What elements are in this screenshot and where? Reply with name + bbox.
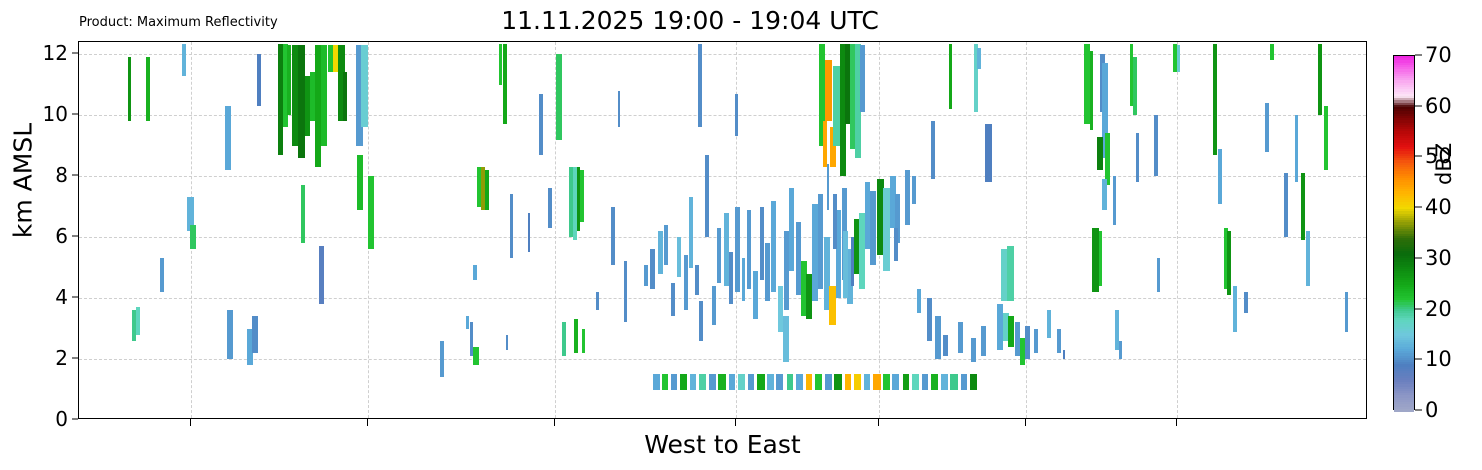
y-axis-tick-mark (72, 236, 78, 237)
reflectivity-bar (1133, 57, 1136, 115)
reflectivity-bar (718, 374, 726, 389)
reflectivity-bar (859, 213, 865, 289)
reflectivity-bar (252, 316, 258, 353)
reflectivity-bar (160, 258, 164, 292)
reflectivity-bar (190, 225, 196, 249)
reflectivity-bar (1177, 45, 1180, 72)
colorbar: 010203040506070 (1393, 55, 1415, 410)
colorbar-label: dBZ (1432, 143, 1456, 185)
reflectivity-bar (506, 335, 509, 350)
reflectivity-bar (1157, 258, 1160, 292)
x-axis-tick-mark (1025, 419, 1026, 426)
reflectivity-bar (735, 94, 738, 137)
reflectivity-bar (321, 45, 327, 146)
reflectivity-bar (1136, 133, 1139, 182)
reflectivity-bar (1105, 133, 1110, 185)
reflectivity-bar (1119, 341, 1122, 359)
reflectivity-bar (510, 194, 513, 258)
y-axis-tick-label: 0 (22, 407, 68, 431)
reflectivity-bar (618, 91, 621, 128)
colorbar-tick-mark (1415, 207, 1422, 208)
radar-cross-section-figure: 11.11.2025 19:00 - 19:04 UTC Product: Ma… (0, 0, 1482, 470)
reflectivity-bar (257, 54, 261, 106)
reflectivity-bar (1008, 316, 1014, 346)
reflectivity-bar (1318, 44, 1322, 116)
reflectivity-bar (927, 298, 932, 341)
x-axis-tick-mark (878, 419, 879, 426)
reflectivity-bar (699, 374, 706, 389)
reflectivity-bar (787, 374, 793, 389)
reflectivity-bar (760, 207, 765, 280)
reflectivity-bar (818, 194, 823, 289)
reflectivity-bar (1063, 350, 1066, 359)
gridline-horizontal (79, 237, 1366, 238)
reflectivity-bar (690, 374, 696, 389)
reflectivity-bar (684, 255, 689, 310)
x-axis-tick-mark (367, 419, 368, 426)
reflectivity-bar (1102, 179, 1107, 209)
gridline-vertical (1026, 42, 1027, 418)
reflectivity-bar (624, 261, 627, 322)
reflectivity-bar (528, 213, 531, 253)
reflectivity-bar (789, 188, 794, 270)
reflectivity-bar (827, 164, 830, 210)
y-axis-tick-mark (72, 175, 78, 176)
reflectivity-bar (664, 225, 668, 265)
reflectivity-bar (658, 231, 663, 274)
reflectivity-bar (1213, 44, 1217, 155)
reflectivity-bar (499, 44, 502, 85)
reflectivity-bar (699, 301, 703, 341)
reflectivity-bar (146, 57, 150, 121)
reflectivity-bar (843, 231, 848, 298)
colorbar-tick-label: 40 (1425, 195, 1452, 219)
reflectivity-bar (729, 252, 733, 304)
reflectivity-bar (709, 374, 715, 389)
reflectivity-bar (941, 374, 947, 389)
reflectivity-bar (860, 45, 865, 112)
reflectivity-bar (833, 194, 837, 249)
y-axis-tick-mark (72, 53, 78, 54)
y-axis-tick-label: 2 (22, 346, 68, 370)
reflectivity-bar (1244, 292, 1248, 313)
reflectivity-bar (1034, 329, 1038, 353)
reflectivity-bar (825, 374, 831, 389)
gridline-horizontal (79, 359, 1366, 360)
y-axis-tick-mark (72, 114, 78, 115)
reflectivity-bar (977, 48, 981, 69)
reflectivity-bar (225, 106, 231, 170)
reflectivity-bar (128, 57, 131, 121)
reflectivity-bar (971, 338, 976, 362)
reflectivity-bar (1301, 173, 1305, 240)
reflectivity-bar (931, 121, 935, 179)
reflectivity-bar (582, 329, 585, 353)
reflectivity-bar (729, 374, 735, 389)
colorbar-tick-label: 30 (1425, 246, 1452, 270)
reflectivity-bar (695, 265, 699, 295)
reflectivity-bar (815, 374, 822, 389)
reflectivity-bar (1233, 286, 1238, 332)
reflectivity-bar (1227, 231, 1231, 295)
reflectivity-bar (854, 374, 861, 389)
reflectivity-bar (574, 319, 578, 353)
reflectivity-bar (1025, 326, 1030, 360)
reflectivity-bar (950, 374, 958, 389)
reflectivity-bar (580, 170, 583, 222)
reflectivity-bar (596, 292, 599, 310)
reflectivity-bar (1306, 231, 1310, 286)
reflectivity-bar (136, 307, 140, 334)
reflectivity-bar (949, 44, 952, 110)
reflectivity-bar (834, 374, 842, 389)
reflectivity-bar (1265, 103, 1269, 152)
reflectivity-bar (825, 60, 832, 121)
reflectivity-bar (717, 228, 721, 283)
reflectivity-bar (1099, 231, 1103, 286)
colorbar-tick-mark (1415, 410, 1422, 411)
reflectivity-bar (864, 374, 870, 389)
x-axis-tick-mark (1176, 419, 1177, 426)
reflectivity-bar (1007, 246, 1013, 301)
reflectivity-bar (796, 374, 804, 389)
reflectivity-bar (961, 374, 967, 389)
colorbar-tick-mark (1415, 359, 1422, 360)
reflectivity-bar (539, 94, 543, 155)
reflectivity-bar (776, 374, 783, 389)
gridline-horizontal (79, 115, 1366, 116)
reflectivity-bar (556, 54, 562, 139)
x-axis-tick-mark (554, 419, 555, 426)
product-label: Product: Maximum Reflectivity (79, 15, 278, 30)
reflectivity-bar (931, 374, 938, 389)
gridline-vertical (1177, 42, 1178, 418)
reflectivity-bar (473, 347, 479, 365)
colorbar-tick-label: 60 (1425, 94, 1452, 118)
reflectivity-bar (343, 72, 347, 121)
reflectivity-bar (806, 374, 812, 389)
reflectivity-bar (922, 374, 928, 389)
reflectivity-bar (503, 44, 507, 125)
reflectivity-bar (611, 207, 615, 265)
reflectivity-bar (671, 374, 677, 389)
reflectivity-bar (1154, 115, 1158, 176)
reflectivity-bar (680, 374, 688, 389)
reflectivity-bar (1057, 329, 1061, 353)
reflectivity-bar (894, 228, 898, 262)
reflectivity-bar (712, 286, 717, 326)
reflectivity-bar (943, 335, 948, 356)
y-axis-tick-mark (72, 358, 78, 359)
colorbar-tick-label: 70 (1425, 43, 1452, 67)
reflectivity-bar (753, 271, 758, 320)
reflectivity-bar (970, 374, 977, 389)
y-axis-tick-label: 10 (22, 102, 68, 126)
reflectivity-bar (662, 374, 668, 389)
reflectivity-bar (747, 210, 752, 289)
reflectivity-bar (981, 326, 986, 356)
y-axis-tick-label: 12 (22, 41, 68, 65)
reflectivity-bar (1218, 149, 1222, 204)
reflectivity-bar (738, 374, 745, 389)
reflectivity-bar (440, 341, 444, 378)
reflectivity-bar (650, 249, 655, 289)
reflectivity-bar (883, 374, 889, 389)
reflectivity-bar (485, 170, 489, 210)
reflectivity-bar (1270, 44, 1274, 61)
reflectivity-bar (1113, 176, 1116, 225)
colorbar-segment (1394, 409, 1414, 412)
reflectivity-bar (671, 283, 676, 317)
reflectivity-bar (287, 45, 292, 115)
x-axis-label: West to East (78, 430, 1367, 459)
reflectivity-bar (357, 155, 363, 210)
reflectivity-bar (473, 265, 477, 280)
reflectivity-bar (1345, 292, 1348, 332)
reflectivity-bar (742, 258, 746, 301)
reflectivity-bar (958, 322, 963, 352)
reflectivity-bar (985, 124, 991, 182)
reflectivity-bar (466, 316, 469, 328)
reflectivity-bar (912, 374, 920, 389)
reflectivity-bar (1295, 115, 1299, 182)
reflectivity-bar (748, 374, 754, 389)
reflectivity-bar (705, 155, 709, 237)
reflectivity-bar (1047, 310, 1051, 337)
y-axis-tick-label: 6 (22, 224, 68, 248)
reflectivity-bar (689, 197, 694, 267)
y-axis-tick-label: 4 (22, 285, 68, 309)
reflectivity-bar (873, 374, 881, 389)
reflectivity-bar (182, 44, 186, 76)
reflectivity-bar (368, 176, 374, 249)
reflectivity-bar (1284, 173, 1288, 237)
reflectivity-bar (917, 289, 921, 313)
reflectivity-bar (319, 246, 324, 304)
colorbar-gradient (1393, 55, 1415, 410)
reflectivity-bar (783, 316, 789, 362)
reflectivity-bar (644, 265, 649, 286)
reflectivity-bar (765, 243, 770, 301)
colorbar-tick-mark (1415, 55, 1422, 56)
colorbar-tick-label: 0 (1425, 398, 1438, 422)
y-axis-tick-mark (72, 419, 78, 420)
plot-inner (79, 42, 1366, 418)
colorbar-tick-mark (1415, 156, 1422, 157)
x-axis-tick-mark (735, 419, 736, 426)
reflectivity-bar (823, 121, 828, 167)
reflectivity-bar (905, 170, 910, 225)
reflectivity-bar (892, 374, 899, 389)
reflectivity-bar (771, 201, 776, 292)
x-axis-tick-mark (190, 419, 191, 426)
reflectivity-bar (677, 237, 681, 277)
reflectivity-bar (757, 374, 765, 389)
reflectivity-bar (1090, 51, 1094, 130)
y-axis-tick-mark (72, 297, 78, 298)
reflectivity-bar (1324, 106, 1328, 170)
reflectivity-bar (767, 374, 773, 389)
reflectivity-bar (653, 374, 661, 389)
gridline-horizontal (79, 176, 1366, 177)
colorbar-tick-mark (1415, 257, 1422, 258)
reflectivity-bar (851, 237, 854, 286)
reflectivity-bar (935, 316, 941, 359)
reflectivity-bar (1097, 137, 1103, 171)
colorbar-tick-label: 10 (1425, 347, 1452, 371)
reflectivity-bar (870, 191, 876, 264)
reflectivity-bar (735, 207, 740, 292)
plot-area (78, 41, 1367, 419)
reflectivity-bar (301, 185, 306, 243)
gridline-horizontal (79, 298, 1366, 299)
colorbar-tick-mark (1415, 105, 1422, 106)
colorbar-tick-mark (1415, 308, 1422, 309)
reflectivity-bar (361, 45, 368, 127)
colorbar-tick-label: 20 (1425, 297, 1452, 321)
reflectivity-bar (912, 176, 916, 203)
reflectivity-bar (548, 188, 552, 228)
reflectivity-bar (698, 44, 703, 128)
reflectivity-bar (227, 310, 233, 359)
reflectivity-bar (845, 374, 851, 389)
y-axis-tick-label: 8 (22, 163, 68, 187)
reflectivity-bar (562, 322, 565, 356)
reflectivity-bar (903, 374, 909, 389)
